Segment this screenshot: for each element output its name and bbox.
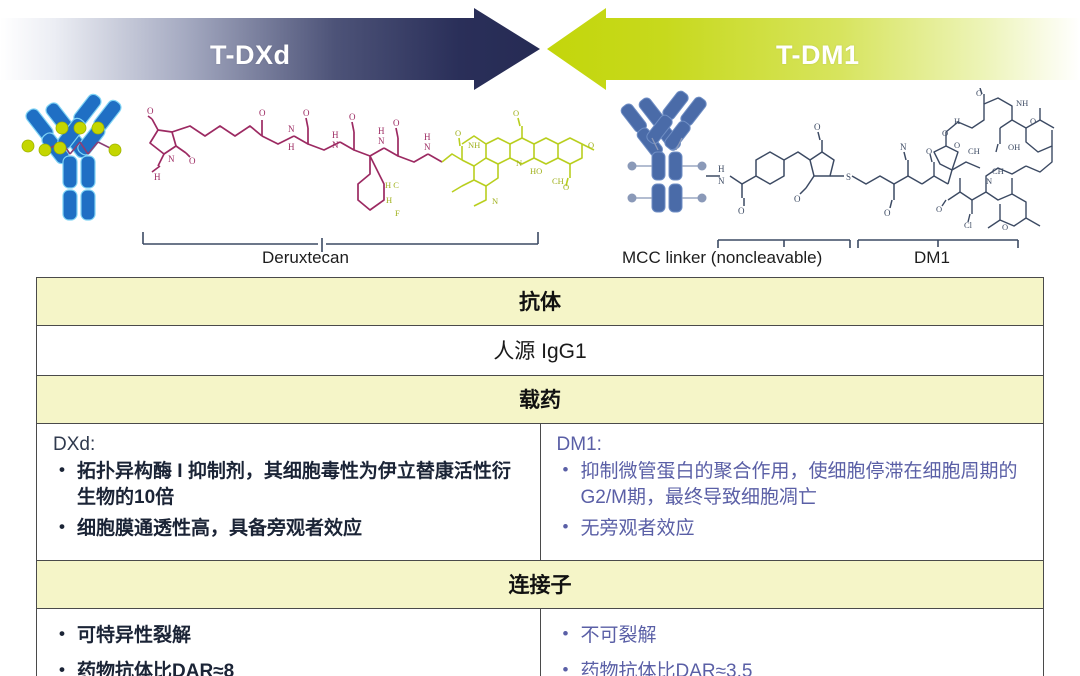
svg-text:O: O — [884, 208, 891, 218]
svg-text:O: O — [954, 140, 960, 150]
comparison-banner: T-DXd T-DM1 — [0, 8, 1080, 90]
svg-text:O: O — [513, 108, 519, 118]
svg-text:H: H — [288, 142, 295, 152]
svg-text:NH: NH — [1016, 98, 1028, 108]
svg-text:N: N — [492, 196, 498, 206]
svg-text:N: N — [516, 158, 522, 168]
section-header-antibody: 抗体 — [37, 278, 1044, 326]
svg-text:O: O — [147, 106, 154, 116]
table-row-header-linker: 连接子 — [37, 560, 1044, 608]
linker-atom-labels: OO OO OO NH NH NH NH NH — [147, 106, 431, 182]
svg-text:O: O — [814, 122, 821, 132]
mcc-linker-structure — [706, 132, 922, 208]
svg-text:O: O — [976, 88, 982, 98]
table-row-linker-detail: 可特异性裂解 药物抗体比DAR≈8 不可裂解 药物抗体比DAR≈3.5 — [37, 608, 1044, 676]
svg-text:H: H — [154, 172, 161, 182]
svg-text:O: O — [189, 156, 196, 166]
list-item: 抑制微管蛋白的聚合作用，使细胞停滞在细胞周期的G2/M期，最终导致细胞凋亡 — [561, 459, 1030, 511]
payload-title-dxd: DXd: — [53, 434, 526, 456]
antibody-right-attachment-dots — [628, 162, 707, 203]
svg-text:F: F — [395, 208, 400, 218]
svg-text:H: H — [954, 116, 960, 126]
svg-text:N: N — [986, 176, 992, 186]
svg-text:H: H — [378, 126, 385, 136]
list-item: 拓扑异构酶 I 抑制剂，其细胞毒性为伊立替康活性衍生物的10倍 — [57, 459, 526, 511]
svg-text:O: O — [455, 128, 461, 138]
brace-dm1-shape — [858, 240, 1018, 248]
svg-text:H: H — [332, 130, 339, 140]
molecule-artwork: OO OO OO NH NH NH NH NH — [0, 88, 1080, 238]
list-item: 不可裂解 — [561, 623, 1030, 649]
svg-text:CH: CH — [992, 166, 1004, 176]
list-item: 药物抗体比DAR≈8 — [57, 659, 526, 676]
dxd-atom-labels: OO OO NHN N H HOCH H CF — [385, 108, 594, 218]
linker-cell-tdm1: 不可裂解 药物抗体比DAR≈3.5 — [540, 608, 1044, 676]
svg-text:O: O — [303, 108, 310, 118]
svg-text:O: O — [738, 206, 745, 216]
antibody-shared-value: 人源 IgG1 — [37, 326, 1044, 376]
brace-label-deruxtecan: Deruxtecan — [262, 248, 349, 268]
payload-title-dm1: DM1: — [557, 434, 1030, 456]
svg-text:O: O — [942, 128, 948, 138]
comparison-table: 抗体 人源 IgG1 载药 DXd: 拓扑异构酶 I 抑制剂，其细胞毒性为伊立替… — [36, 277, 1044, 676]
list-item: 药物抗体比DAR≈3.5 — [561, 659, 1030, 676]
svg-text:O: O — [926, 146, 932, 156]
svg-text:NH: NH — [468, 140, 480, 150]
section-header-linker: 连接子 — [37, 560, 1044, 608]
svg-text:CH: CH — [968, 146, 980, 156]
brace-label-mcc-linker: MCC linker (noncleavable) — [622, 248, 822, 268]
section-header-payload: 载药 — [37, 376, 1044, 424]
linker-cell-tdxd: 可特异性裂解 药物抗体比DAR≈8 — [37, 608, 541, 676]
svg-text:O: O — [936, 204, 942, 214]
payload-cell-dm1: DM1: 抑制微管蛋白的聚合作用，使细胞停滞在细胞周期的G2/M期，最终导致细胞… — [540, 424, 1044, 561]
svg-text:H: H — [424, 132, 431, 142]
svg-text:O: O — [794, 194, 801, 204]
list-item: 细胞膜通透性高，具备旁观者效应 — [57, 516, 526, 542]
svg-text:S: S — [846, 172, 851, 182]
banner-label-tdm1: T-DM1 — [776, 40, 860, 71]
brace-label-dm1: DM1 — [914, 248, 950, 268]
payload-bullets-dm1: 抑制微管蛋白的聚合作用，使细胞停滞在细胞周期的G2/M期，最终导致细胞凋亡 无旁… — [555, 459, 1030, 543]
svg-text:N: N — [424, 142, 431, 152]
list-item: 可特异性裂解 — [57, 623, 526, 649]
table-row-header-antibody: 抗体 — [37, 278, 1044, 326]
table-row-antibody-value: 人源 IgG1 — [37, 326, 1044, 376]
payload-bullets-dxd: 拓扑异构酶 I 抑制剂，其细胞毒性为伊立替康活性衍生物的10倍 细胞膜通透性高，… — [51, 459, 526, 543]
table-row-header-payload: 载药 — [37, 376, 1044, 424]
banner-label-tdxd: T-DXd — [210, 40, 291, 71]
svg-text:N: N — [718, 176, 725, 186]
brace-mcc-shape — [718, 240, 850, 248]
slide-root: T-DXd T-DM1 — [0, 0, 1080, 676]
antibody-trastuzumab-left — [24, 92, 124, 220]
svg-text:O: O — [563, 182, 569, 192]
svg-text:CH: CH — [552, 176, 564, 186]
linker-bullets-tdxd: 可特异性裂解 药物抗体比DAR≈8 — [51, 623, 526, 676]
svg-text:N: N — [900, 142, 907, 152]
svg-text:O: O — [259, 108, 266, 118]
svg-text:N: N — [378, 136, 385, 146]
svg-text:O: O — [349, 112, 356, 122]
svg-text:H C: H C — [385, 180, 399, 190]
svg-text:O: O — [1030, 116, 1036, 126]
svg-text:N: N — [288, 124, 295, 134]
payload-cell-dxd: DXd: 拓扑异构酶 I 抑制剂，其细胞毒性为伊立替康活性衍生物的10倍 细胞膜… — [37, 424, 541, 561]
structure-brace-labels: Deruxtecan MCC linker (noncleavable) DM1 — [0, 226, 1080, 278]
svg-text:H: H — [386, 195, 392, 205]
list-item: 无旁观者效应 — [561, 516, 1030, 542]
svg-text:H: H — [718, 164, 725, 174]
svg-text:O: O — [588, 140, 594, 150]
linker-bullets-tdm1: 不可裂解 药物抗体比DAR≈3.5 — [555, 623, 1030, 676]
svg-text:OH: OH — [1008, 142, 1020, 152]
table-row-payload-detail: DXd: 拓扑异构酶 I 抑制剂，其细胞毒性为伊立替康活性衍生物的10倍 细胞膜… — [37, 424, 1044, 561]
svg-text:N: N — [168, 154, 175, 164]
svg-text:HO: HO — [530, 166, 542, 176]
dm1-atom-labels: OO ONH OOH OCH CHN ClO OH — [926, 88, 1036, 232]
svg-text:O: O — [393, 118, 400, 128]
svg-text:N: N — [332, 140, 339, 150]
